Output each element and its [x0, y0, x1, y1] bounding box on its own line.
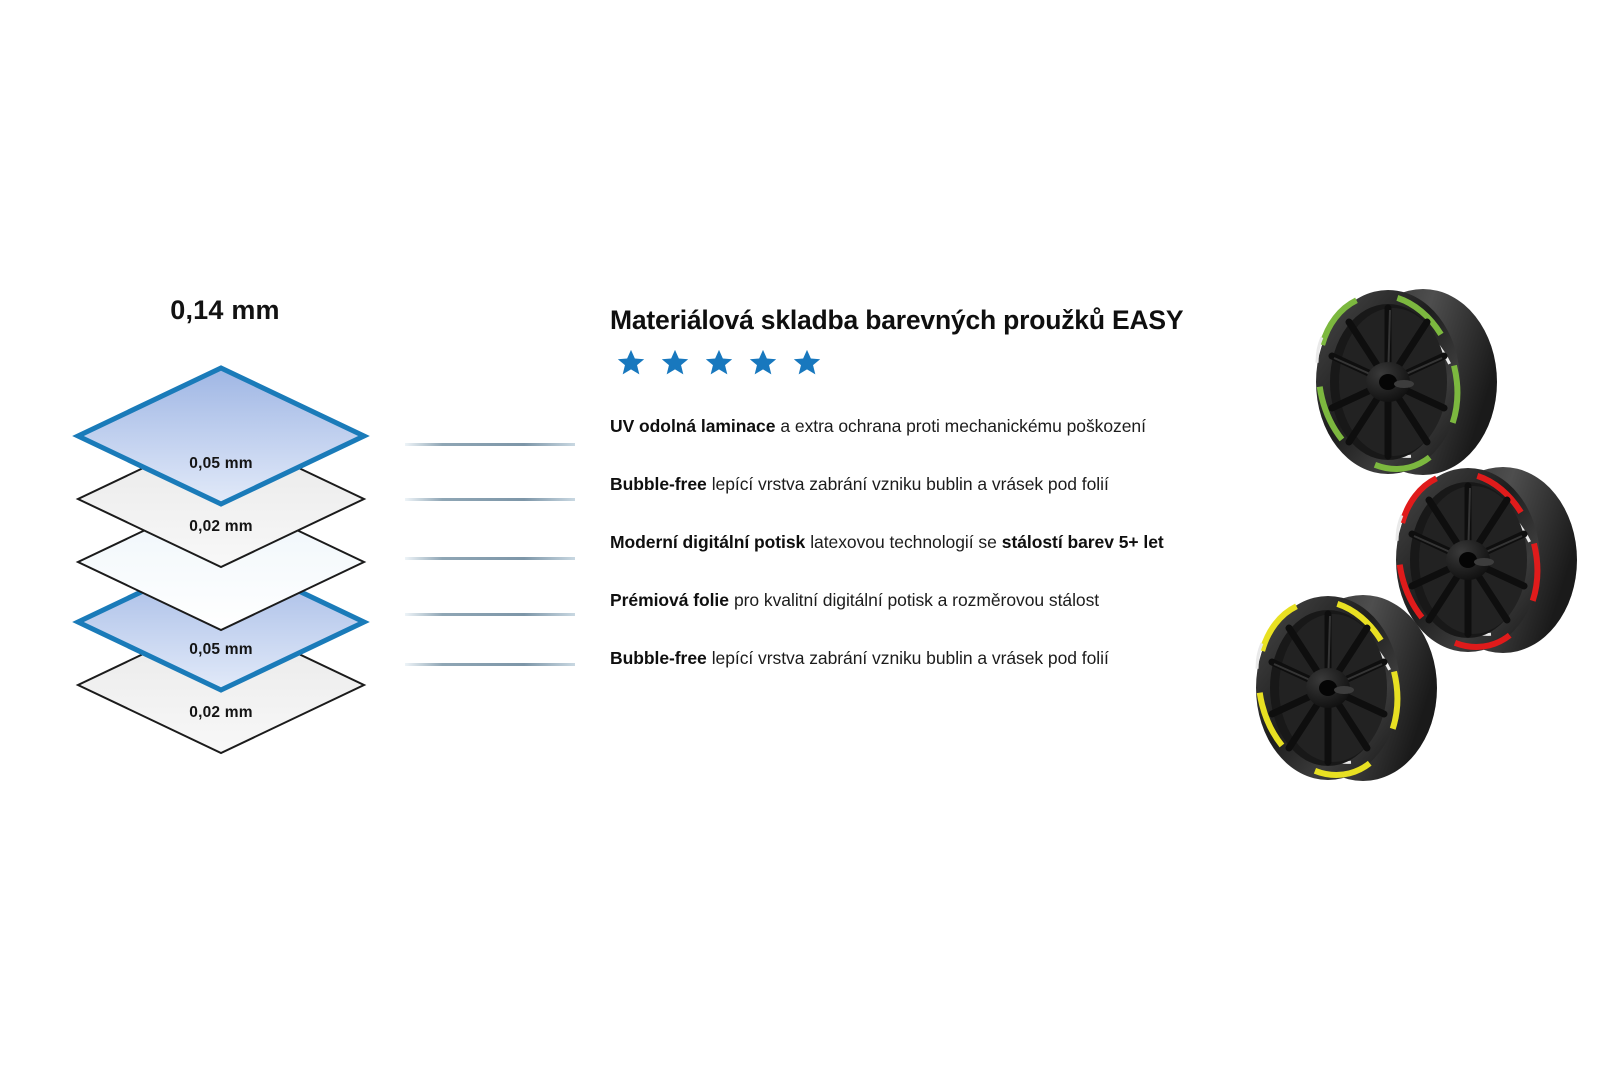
feature-rest: lepící vrstva zabrání vzniku bublin a vr… [712, 474, 1109, 495]
feature-row-laminate: UV odolná laminace a extra ochrana proti… [610, 397, 1330, 455]
feature-lead: Bubble-free [610, 648, 707, 669]
feature-lead: Moderní digitální potisk [610, 532, 805, 553]
rating-stars [616, 345, 1330, 379]
page-title: Materiálová skladba barevných proužků EA… [610, 305, 1330, 336]
layer-thickness-label: 0,05 mm [73, 455, 369, 473]
connector-lines [405, 430, 590, 680]
star-icon [748, 348, 778, 377]
layer-thickness-label: 0,05 mm [73, 641, 369, 659]
star-icon [792, 348, 822, 377]
feature-row-adhesive-bottom: Bubble-free lepící vrstva zabrání vzniku… [610, 629, 1330, 687]
feature-lead: UV odolná laminace [610, 416, 775, 437]
feature-rest: a extra ochrana proti mechanickému poško… [780, 416, 1146, 437]
layer-thickness-label: 0,02 mm [73, 518, 369, 536]
motorcycle-wheel-green-stripe [1292, 282, 1524, 482]
feature-row-adhesive-top: Bubble-free lepící vrstva zabrání vzniku… [610, 455, 1330, 513]
layer-thickness-label: 0,02 mm [73, 704, 369, 722]
feature-rest: latexovou technologií se [810, 532, 997, 553]
star-icon [704, 348, 734, 377]
layer-diagram: 0,14 mm 0,05 mm 0,02 mm [55, 295, 395, 745]
feature-row-premium-film: Prémiová folie pro kvalitní digitální po… [610, 571, 1330, 629]
feature-row-digital-print: Moderní digitální potisk latexovou techn… [610, 513, 1330, 571]
star-icon [616, 348, 646, 377]
layer-laminate: 0,05 mm [73, 363, 369, 509]
star-icon [660, 348, 690, 377]
feature-list: UV odolná laminace a extra ochrana proti… [610, 397, 1330, 687]
total-thickness-label: 0,14 mm [55, 295, 395, 326]
feature-tail: stálostí barev 5+ let [1002, 532, 1164, 553]
motorcycle-wheel-red-stripe [1372, 460, 1600, 660]
feature-lead: Bubble-free [610, 474, 707, 495]
connector-line [405, 613, 575, 616]
feature-lead: Prémiová folie [610, 590, 729, 611]
connector-line [405, 443, 575, 446]
feature-panel: Materiálová skladba barevných proužků EA… [610, 305, 1330, 687]
feature-rest: pro kvalitní digitální potisk a rozměrov… [734, 590, 1099, 611]
connector-line [405, 498, 575, 501]
connector-line [405, 557, 575, 560]
connector-line [405, 663, 575, 666]
feature-rest: lepící vrstva zabrání vzniku bublin a vr… [712, 648, 1109, 669]
